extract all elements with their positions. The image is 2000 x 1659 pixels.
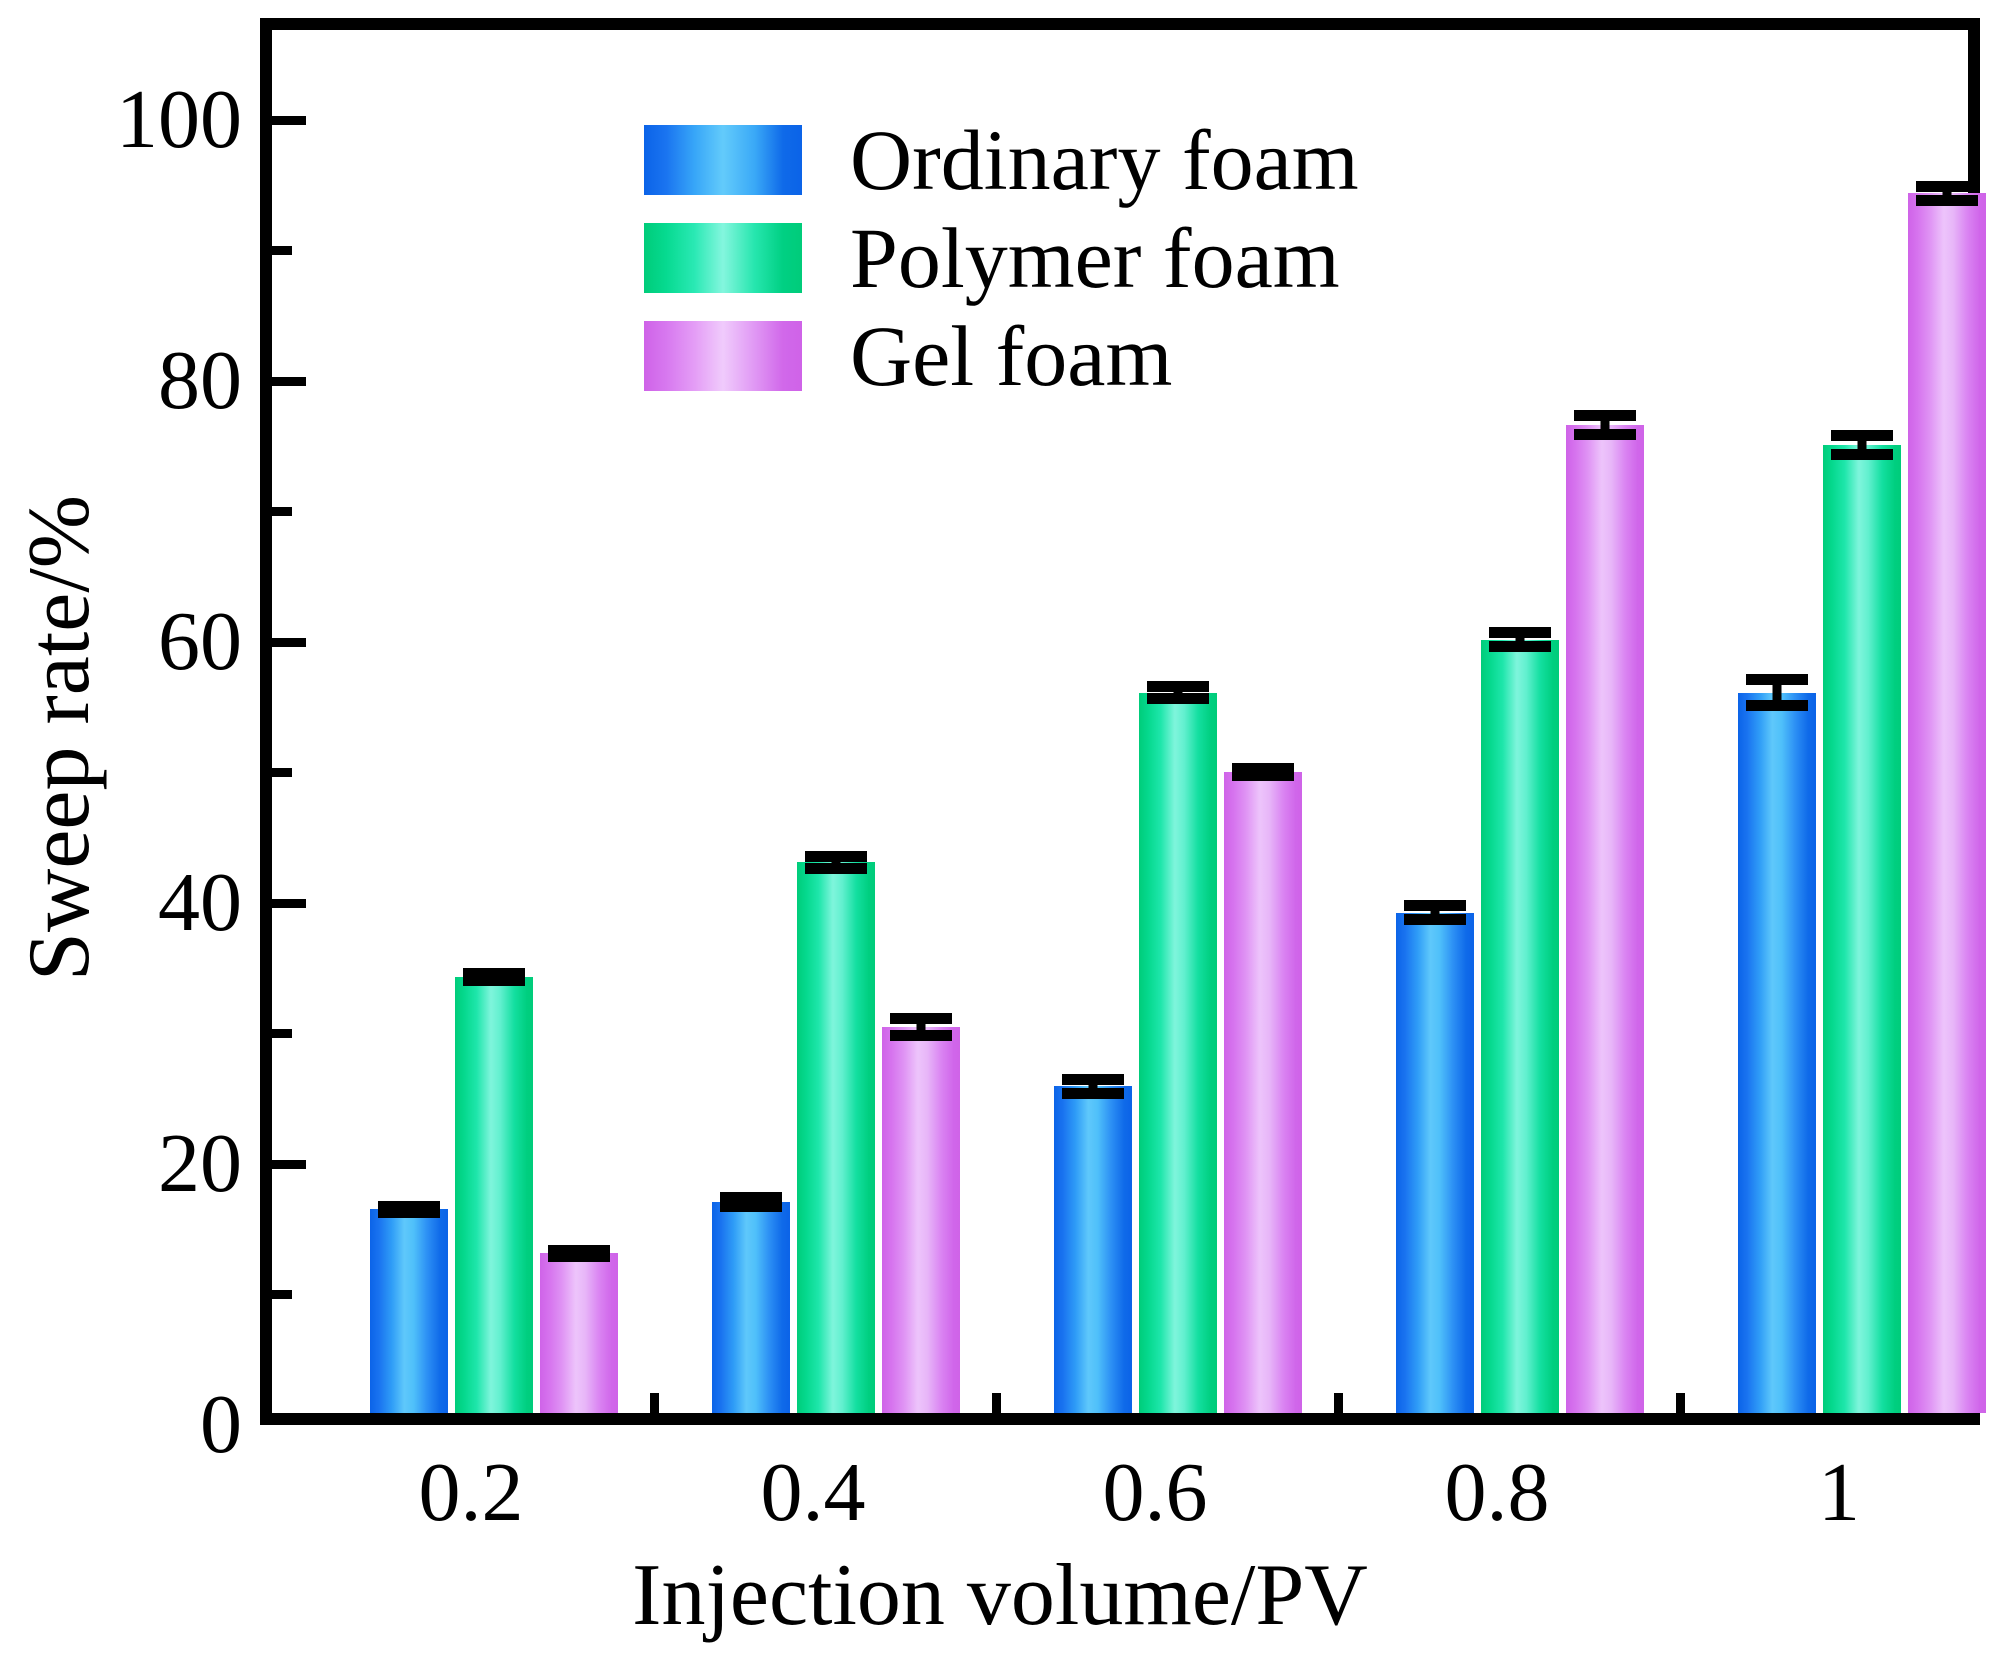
y-tick-minor-30 (272, 1029, 292, 1038)
chart-legend: Ordinary foam Polymer foam Gel foam (644, 118, 1524, 412)
bar-gel-foam-0.6[interactable] (1224, 772, 1302, 1413)
bar-ordinary-foam-0.4[interactable] (712, 1202, 790, 1413)
error-cap-bottom (1147, 693, 1209, 704)
x-tick-label-1: 1 (1818, 1448, 1860, 1538)
bar-ordinary-foam-0.8[interactable] (1396, 913, 1474, 1413)
legend-item-polymer-foam[interactable]: Polymer foam (644, 216, 1524, 300)
legend-label-polymer-foam: Polymer foam (850, 215, 1340, 301)
y-tick-major-40 (272, 899, 306, 908)
x-axis-title: Injection volume/PV (0, 1548, 2000, 1644)
bar-ordinary-foam-1[interactable] (1738, 693, 1816, 1413)
chart-figure: 100 80 60 40 20 0 Sweep rate/% (0, 0, 2000, 1659)
y-tick-label-40: 40 (158, 861, 242, 945)
legend-swatch-icon-polymer-foam (644, 223, 802, 293)
bar-ordinary-foam-0.6[interactable] (1054, 1086, 1132, 1413)
x-tick-label-0.6: 0.6 (1103, 1448, 1208, 1538)
error-bar-gel-foam-0.2 (540, 1245, 618, 1263)
error-cap-bottom (1831, 449, 1893, 460)
error-cap-bottom (463, 975, 525, 986)
bar-gel-foam-1[interactable] (1908, 193, 1986, 1413)
error-bar-ordinary-foam-0.2 (370, 1201, 448, 1219)
error-bar-polymer-foam-0.2 (455, 968, 533, 986)
error-bar-polymer-foam-0.6 (1139, 681, 1217, 704)
y-tick-label-100: 100 (116, 78, 242, 162)
error-cap-bottom (1574, 429, 1636, 440)
error-cap-bottom (720, 1201, 782, 1212)
error-bar-gel-foam-0.6 (1224, 763, 1302, 781)
plot-area: Ordinary foam Polymer foam Gel foam (272, 30, 1968, 1413)
y-tick-major-20 (272, 1160, 306, 1169)
error-cap-bottom (805, 863, 867, 874)
bar-gel-foam-0.4[interactable] (882, 1027, 960, 1413)
error-bar-ordinary-foam-0.8 (1396, 900, 1474, 925)
error-cap-bottom (1062, 1088, 1124, 1099)
bar-gel-foam-0.2[interactable] (540, 1253, 618, 1413)
error-bar-gel-foam-0.8 (1566, 410, 1644, 440)
y-tick-minor-50 (272, 768, 292, 777)
error-bar-ordinary-foam-1 (1738, 674, 1816, 712)
error-bar-polymer-foam-0.4 (797, 851, 875, 874)
bar-polymer-foam-0.4[interactable] (797, 862, 875, 1413)
error-bar-gel-foam-1 (1908, 181, 1986, 206)
y-tick-minor-70 (272, 507, 292, 516)
legend-swatch-icon-gel-foam (644, 321, 802, 391)
bar-polymer-foam-1[interactable] (1823, 445, 1901, 1413)
error-bar-polymer-foam-1 (1823, 430, 1901, 460)
error-cap-bottom (1746, 700, 1808, 711)
x-tick-minor-0.9 (1676, 1393, 1685, 1413)
error-cap-bottom (1916, 195, 1978, 206)
error-bar-polymer-foam-0.8 (1481, 627, 1559, 652)
bar-gel-foam-0.8[interactable] (1566, 425, 1644, 1413)
y-tick-major-80 (272, 377, 306, 386)
error-cap-bottom (378, 1207, 440, 1218)
x-tick-label-0.4: 0.4 (761, 1448, 866, 1538)
legend-label-gel-foam: Gel foam (850, 313, 1172, 399)
error-cap-bottom (1489, 641, 1551, 652)
error-bar-gel-foam-0.4 (882, 1013, 960, 1041)
x-tick-minor-0.5 (992, 1393, 1001, 1413)
x-tick-minor-0.3 (650, 1393, 659, 1413)
bar-ordinary-foam-0.2[interactable] (370, 1209, 448, 1413)
y-tick-minor-10 (272, 1290, 292, 1299)
x-tick-label-0.2: 0.2 (419, 1448, 524, 1538)
legend-item-gel-foam[interactable]: Gel foam (644, 314, 1524, 398)
y-tick-major-100 (272, 116, 306, 125)
legend-label-ordinary-foam: Ordinary foam (850, 117, 1359, 203)
y-tick-major-60 (272, 638, 306, 647)
error-cap-bottom (1404, 914, 1466, 925)
y-axis-title: Sweep rate/% (12, 338, 108, 1138)
x-tick-minor-0.7 (1334, 1393, 1343, 1413)
legend-item-ordinary-foam[interactable]: Ordinary foam (644, 118, 1524, 202)
bar-polymer-foam-0.8[interactable] (1481, 640, 1559, 1413)
y-tick-minor-90 (272, 246, 292, 255)
y-tick-label-20: 20 (158, 1122, 242, 1206)
legend-swatch-icon-ordinary-foam (644, 125, 802, 195)
error-cap-bottom (890, 1030, 952, 1041)
y-tick-label-80: 80 (158, 339, 242, 423)
error-cap-bottom (1232, 770, 1294, 781)
y-tick-label-60: 60 (158, 600, 242, 684)
x-tick-label-0.8: 0.8 (1445, 1448, 1550, 1538)
error-bar-ordinary-foam-0.6 (1054, 1074, 1132, 1099)
error-bar-ordinary-foam-0.4 (712, 1192, 790, 1212)
y-tick-label-0: 0 (200, 1383, 242, 1467)
bar-polymer-foam-0.2[interactable] (455, 977, 533, 1413)
error-cap-bottom (548, 1251, 610, 1262)
bar-polymer-foam-0.6[interactable] (1139, 693, 1217, 1413)
x-axis-tick-labels: 0.2 0.4 0.6 0.8 1 (260, 1448, 1980, 1558)
